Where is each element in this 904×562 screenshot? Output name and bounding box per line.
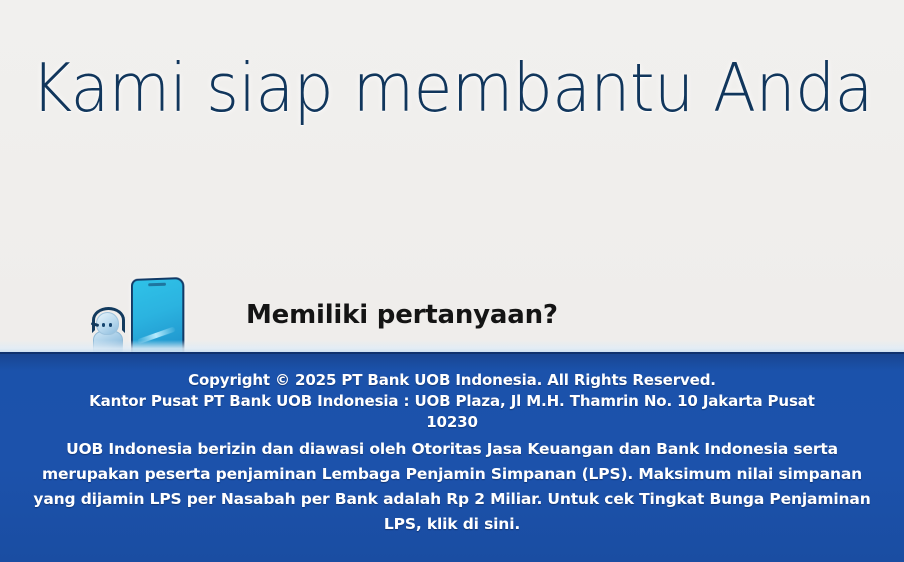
hero-section: Kami siap membantu Anda: [0, 52, 904, 124]
page-root: Kami siap membantu Anda Memiliki pertany…: [0, 0, 904, 562]
page-title: Kami siap membantu Anda: [31, 52, 873, 124]
footer-lps-rate-link[interactable]: klik di sini.: [427, 515, 520, 533]
footer-disclaimer: UOB Indonesia berizin dan diawasi oleh O…: [0, 437, 904, 537]
site-footer: Copyright © 2025 PT Bank UOB Indonesia. …: [0, 352, 904, 562]
footer-address: Kantor Pusat PT Bank UOB Indonesia : UOB…: [14, 391, 891, 412]
footer-copyright: Copyright © 2025 PT Bank UOB Indonesia. …: [14, 370, 891, 391]
footer-disclaimer-block: UOB Indonesia berizin dan diawasi oleh O…: [0, 437, 904, 537]
footer-postal-code: 10230: [14, 412, 891, 433]
footer-top-divider: [0, 340, 904, 352]
help-question-heading: Memiliki pertanyaan?: [246, 300, 558, 330]
